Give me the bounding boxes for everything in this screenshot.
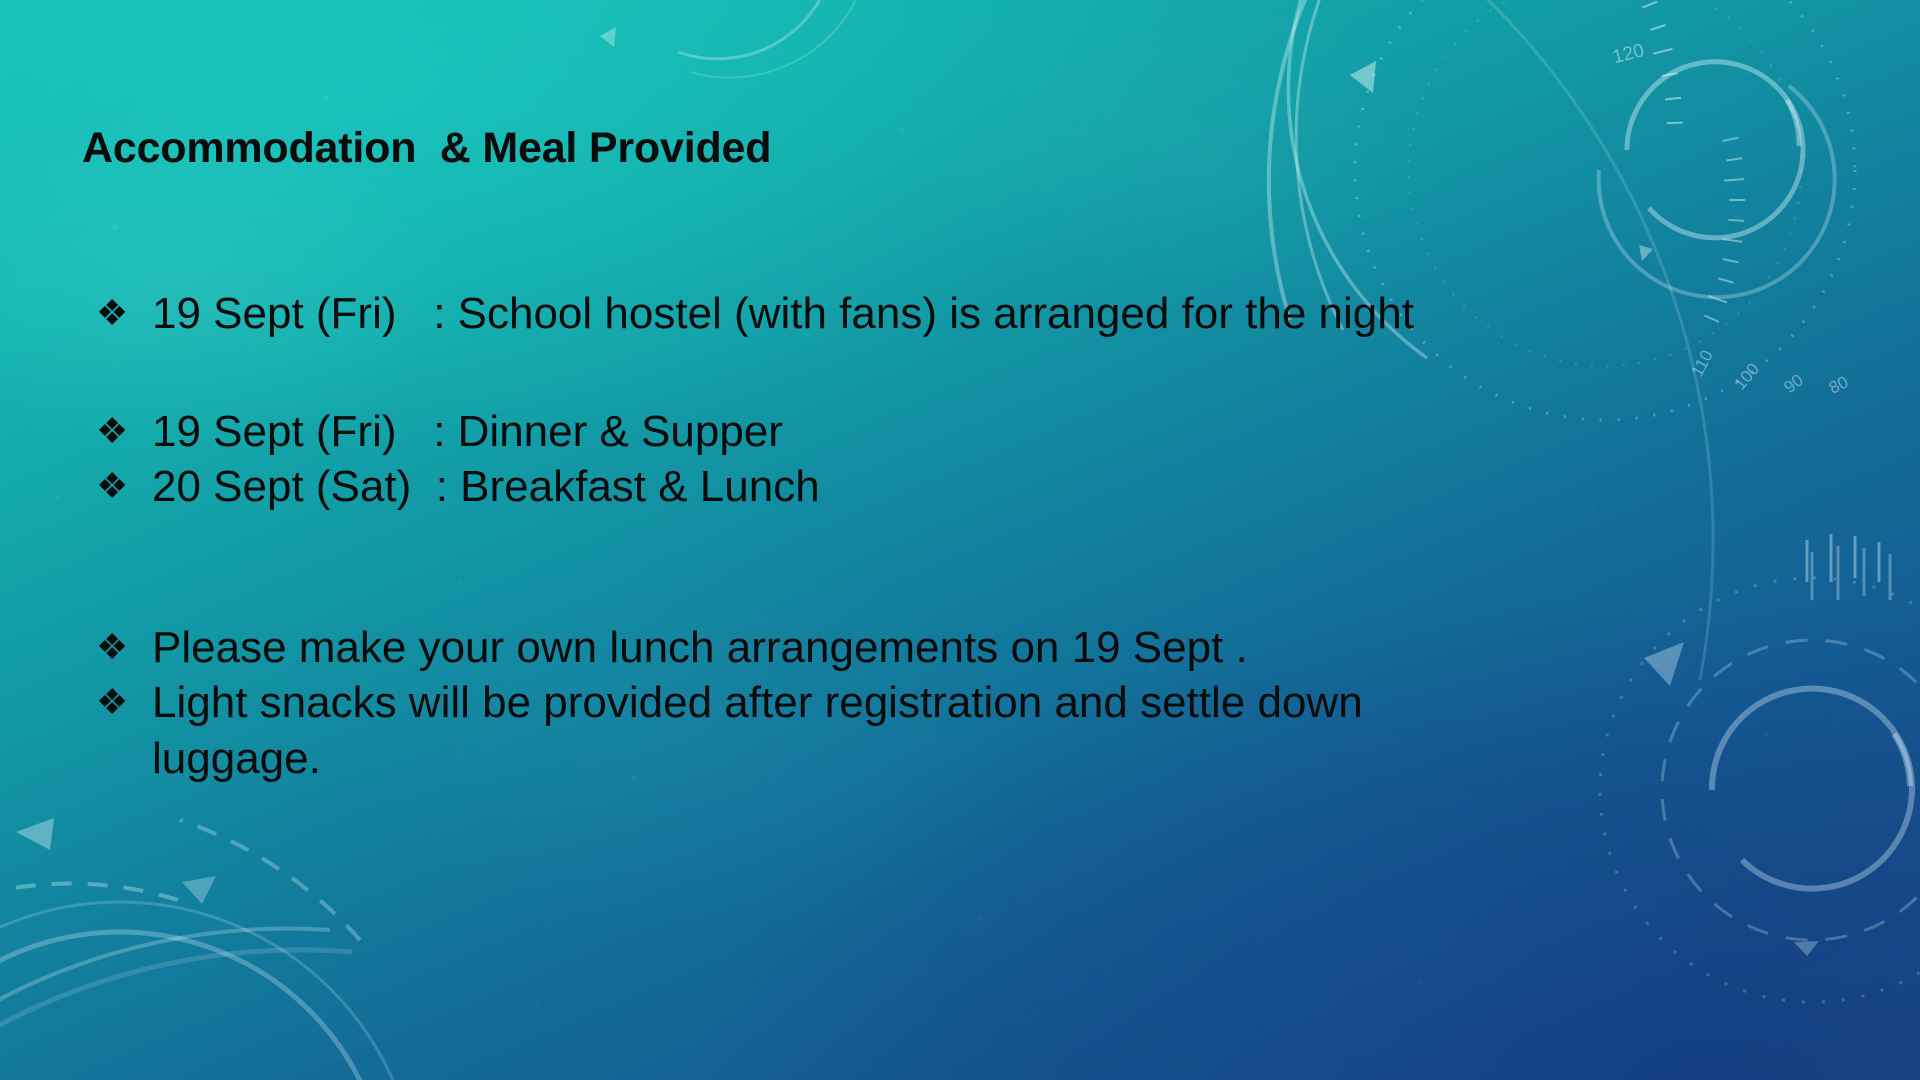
bullet-diamond-icon: ❖: [96, 620, 152, 675]
bullet-group-notes: ❖ Please make your own lunch arrangement…: [96, 620, 1363, 786]
list-item-text: 20 Sept (Sat) : Breakfast & Lunch: [152, 459, 820, 514]
list-item: ❖ 19 Sept (Fri) : Dinner & Supper: [96, 404, 820, 459]
list-item-wrapped-line: luggage.: [96, 731, 1363, 786]
list-item: ❖ Light snacks will be provided after re…: [96, 675, 1363, 730]
list-item: ❖ 20 Sept (Sat) : Breakfast & Lunch: [96, 459, 820, 514]
list-item-text: 19 Sept (Fri) : Dinner & Supper: [152, 404, 820, 459]
bullet-diamond-icon: ❖: [96, 404, 152, 459]
bullet-group-meals: ❖ 19 Sept (Fri) : Dinner & Supper ❖ 20 S…: [96, 404, 820, 515]
slide-content: Accommodation & Meal Provided ❖ 19 Sept …: [0, 0, 1920, 1080]
bullet-diamond-icon: ❖: [96, 286, 152, 341]
page-title: Accommodation & Meal Provided: [82, 126, 771, 171]
list-item-text: Please make your own lunch arrangements …: [152, 620, 1363, 675]
bullet-group-accommodation: ❖ 19 Sept (Fri) : School hostel (with fa…: [96, 286, 1414, 341]
bullet-diamond-icon: ❖: [96, 459, 152, 514]
presentation-slide: 210 200 190 180 170 160 150 140 130 120: [0, 0, 1920, 1080]
bullet-diamond-icon: ❖: [96, 675, 152, 730]
list-item: ❖ 19 Sept (Fri) : School hostel (with fa…: [96, 286, 1414, 341]
list-item-text: Light snacks will be provided after regi…: [152, 675, 1363, 730]
list-item: ❖ Please make your own lunch arrangement…: [96, 620, 1363, 675]
list-item-text: 19 Sept (Fri) : School hostel (with fans…: [152, 286, 1414, 341]
